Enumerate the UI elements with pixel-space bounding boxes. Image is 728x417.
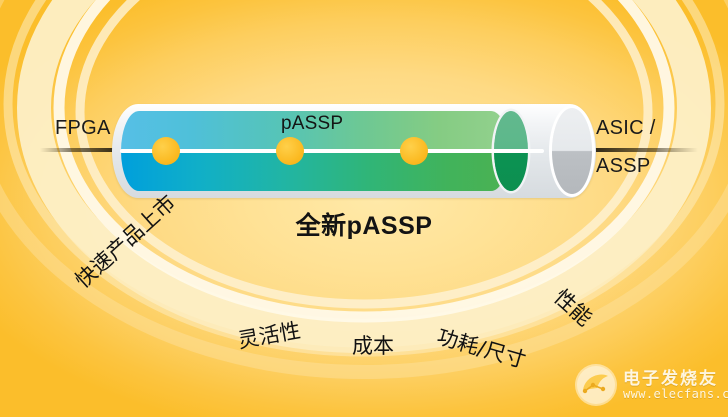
watermark: 电子发烧友 www.elecfans.com (575, 362, 723, 410)
label-asic: ASIC / (596, 117, 656, 140)
cylinder-open-rim (552, 108, 592, 194)
marker-dot-3 (400, 137, 428, 165)
pipeline-cylinder (112, 104, 596, 198)
watermark-url: www.elecfans.com (623, 387, 728, 401)
cylinder-axis-line (120, 149, 544, 153)
diagram-canvas: FPGA ASIC / ASSP pASSP 全新pASSP 快速产品上市灵活性… (0, 0, 728, 417)
marker-dot-1 (152, 137, 180, 165)
marker-dot-2 (276, 137, 304, 165)
label-assp: ASSP (596, 155, 651, 178)
fill-bottom-half (121, 151, 509, 191)
connector-line-right (586, 148, 698, 152)
label-fpga: FPGA (55, 117, 111, 140)
label-passp-inside-cylinder: pASSP (281, 113, 343, 135)
watermark-logo-icon (575, 364, 617, 406)
benefit-label-3: 成本 (352, 330, 394, 360)
watermark-brand: 电子发烧友 (623, 364, 718, 389)
